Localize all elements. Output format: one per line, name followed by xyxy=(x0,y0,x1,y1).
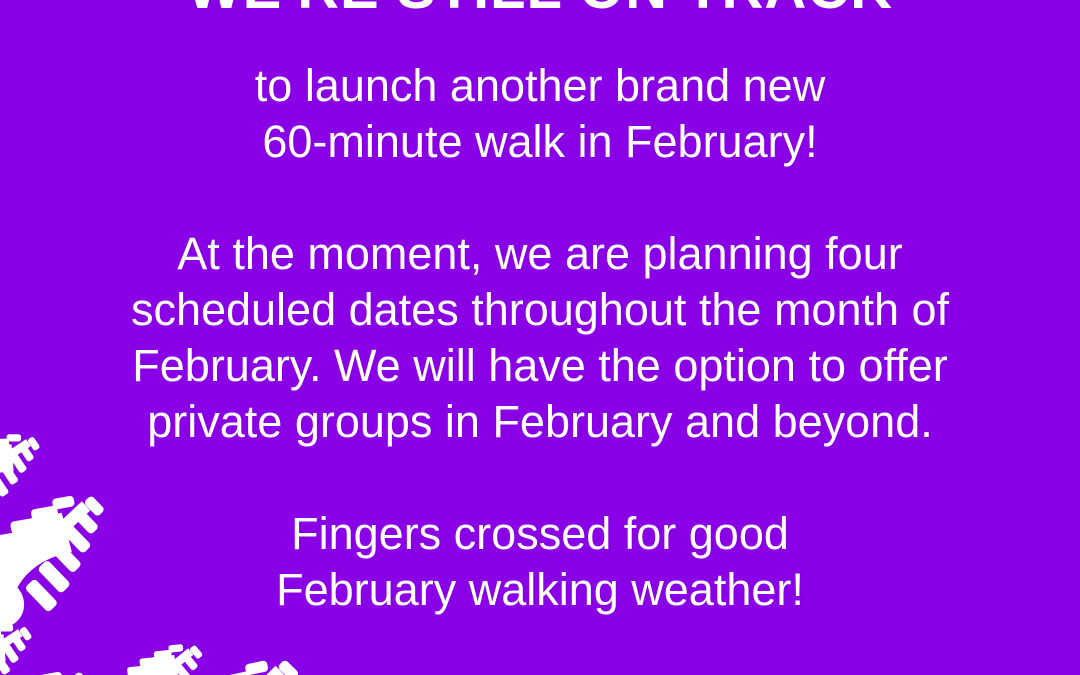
intro-line-1: to launch another brand new xyxy=(40,58,1040,114)
poster-headline: WE'RE STILL ON TRACK xyxy=(0,0,1080,18)
closing-line-1: Fingers crossed for good xyxy=(40,506,1040,562)
paragraph-intro: to launch another brand new 60-minute wa… xyxy=(40,58,1040,170)
body-line-3: February. We will have the option to off… xyxy=(40,338,1040,394)
poster-text-content: WE'RE STILL ON TRACK to launch another b… xyxy=(0,0,1080,675)
paragraph-body: At the moment, we are planning four sche… xyxy=(40,226,1040,450)
body-line-2: scheduled dates throughout the month of xyxy=(40,282,1040,338)
intro-line-2: 60-minute walk in February! xyxy=(40,114,1040,170)
closing-line-2: February walking weather! xyxy=(40,562,1040,618)
body-line-4: private groups in February and beyond. xyxy=(40,394,1040,450)
paragraph-closing: Fingers crossed for good February walkin… xyxy=(40,506,1040,618)
announcement-poster: WE'RE STILL ON TRACK to launch another b… xyxy=(0,0,1080,675)
body-line-1: At the moment, we are planning four xyxy=(40,226,1040,282)
